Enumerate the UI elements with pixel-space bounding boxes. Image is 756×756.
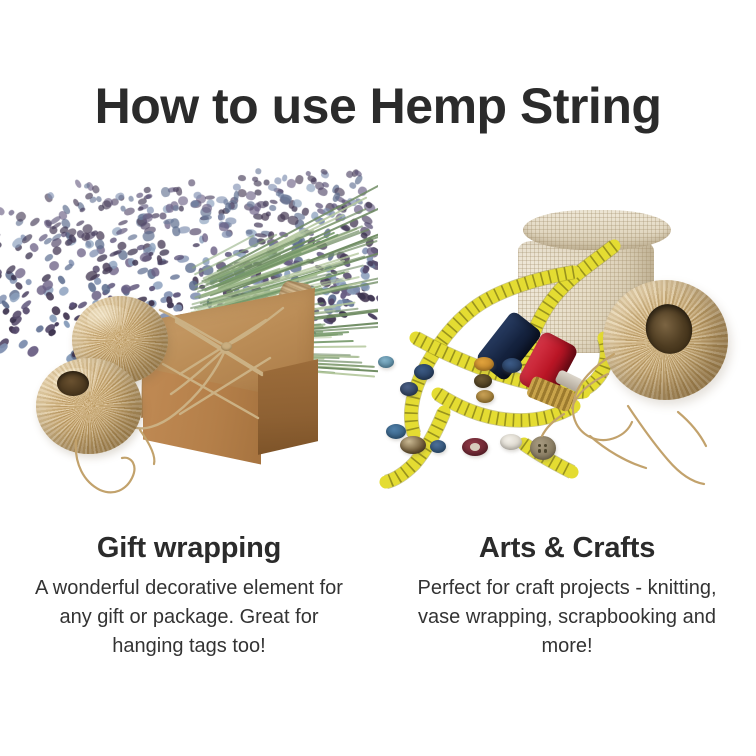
button-maroon-ring xyxy=(462,438,488,456)
button-white xyxy=(500,434,522,450)
button-teal xyxy=(378,356,394,368)
twine-bow-knot xyxy=(221,342,232,351)
caption-heading-arts-crafts: Arts & Crafts xyxy=(400,532,734,565)
arts-crafts-photo xyxy=(378,168,756,513)
caption-body-arts-crafts: Perfect for craft projects - knitting, v… xyxy=(400,574,734,661)
caption-column-gift-wrapping: Gift wrapping A wonderful decorative ele… xyxy=(0,532,378,661)
gift-wrapping-photo xyxy=(0,168,378,513)
button-lightblue xyxy=(386,424,406,439)
button-blue xyxy=(502,358,522,373)
button-speckled xyxy=(400,436,426,454)
button-small-blue xyxy=(430,440,446,453)
caption-heading-gift-wrapping: Gift wrapping xyxy=(22,532,356,565)
photo-row xyxy=(0,168,756,513)
page-title: How to use Hemp String xyxy=(0,80,756,133)
infographic-page: How to use Hemp String xyxy=(0,0,756,756)
twine-ball-lower xyxy=(36,358,142,454)
caption-body-gift-wrapping: A wonderful decorative element for any g… xyxy=(22,574,356,661)
button-navy xyxy=(414,364,434,380)
caption-row: Gift wrapping A wonderful decorative ele… xyxy=(0,532,756,661)
gift-box-side xyxy=(258,359,318,455)
button-gold xyxy=(476,390,494,403)
button-amber xyxy=(474,357,494,371)
button-steel xyxy=(400,382,418,396)
sewing-box-lid xyxy=(523,210,671,250)
button-olive xyxy=(474,374,492,388)
caption-column-arts-crafts: Arts & Crafts Perfect for craft projects… xyxy=(378,532,756,661)
button-large-tan xyxy=(530,436,556,460)
